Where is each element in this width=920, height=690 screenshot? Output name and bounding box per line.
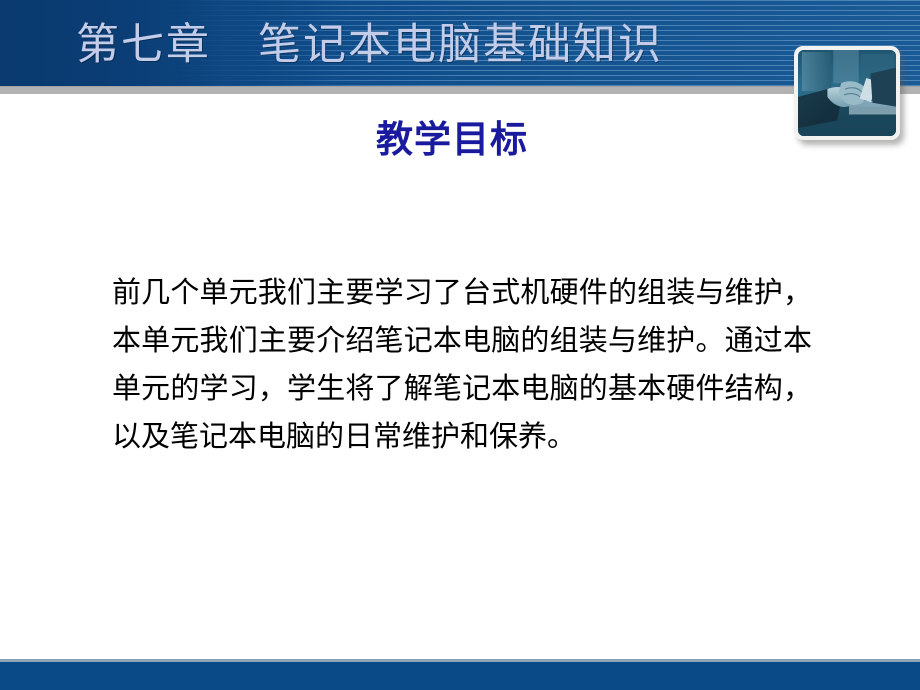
header-separator-strip — [0, 86, 920, 94]
slide-footer-band — [0, 662, 920, 690]
section-subtitle: 教学目标 — [376, 116, 528, 162]
presentation-slide: 第七章 笔记本电脑基础知识 — [0, 0, 920, 690]
handshake-photo — [798, 50, 896, 136]
body-paragraph: 前几个单元我们主要学习了台式机硬件的组装与维护，本单元我们主要介绍笔记本电脑的组… — [112, 268, 812, 460]
chapter-title: 第七章 笔记本电脑基础知识 — [76, 20, 663, 70]
decorative-photo-frame — [794, 46, 900, 140]
